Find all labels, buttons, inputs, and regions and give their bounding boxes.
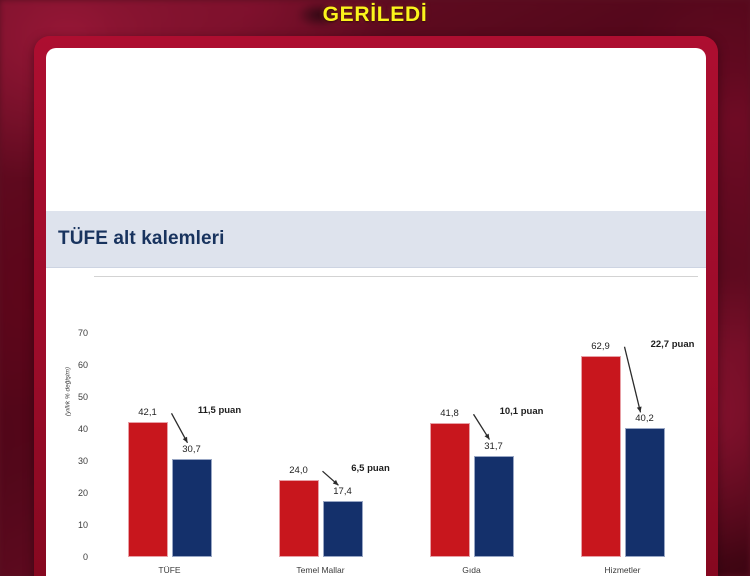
headline-text: GERİLEDİ [0, 0, 750, 34]
bar-value-label: 62,9 [591, 341, 610, 352]
bar [581, 356, 621, 557]
broadcast-screenshot: GERİLEDİ TÜFE alt kalemleri (yıllık % de… [0, 0, 750, 576]
bar [474, 456, 514, 557]
x-axis-category-label: TÜFE [158, 565, 180, 575]
y-axis-tick: 40 [54, 424, 88, 434]
chart-title-band: TÜFE alt kalemleri [46, 211, 706, 268]
delta-annotation-label: 10,1 puan [500, 406, 544, 417]
bar [323, 501, 363, 557]
x-axis-category-label: Hizmetler [605, 565, 641, 575]
y-axis-tick: 10 [54, 520, 88, 530]
y-axis-tick: 30 [54, 456, 88, 466]
x-axis-baseline [94, 276, 698, 277]
y-axis-tick: 70 [54, 328, 88, 338]
delta-annotation-label: 11,5 puan [198, 405, 241, 416]
y-axis-tick: 60 [54, 360, 88, 370]
y-axis-tick: 20 [54, 488, 88, 498]
bar-value-label: 41,8 [440, 408, 459, 419]
bar-value-label: 40,2 [635, 413, 654, 424]
bar [430, 423, 470, 557]
bar-value-label: 31,7 [484, 441, 503, 452]
y-axis-tick: 50 [54, 392, 88, 402]
bar [625, 428, 665, 557]
bar-value-label: 30,7 [182, 444, 201, 455]
y-axis-tick: 0 [54, 552, 88, 562]
bar-value-label: 17,4 [333, 486, 352, 497]
delta-annotation-label: 22,7 puan [651, 339, 695, 350]
chart-card: TÜFE alt kalemleri (yıllık % değişim) 01… [46, 48, 706, 576]
x-axis-category-label: Gıda [462, 565, 480, 575]
bar-chart-plot: (yıllık % değişim) 010203040506070 42,13… [46, 276, 706, 576]
bar-value-label: 24,0 [289, 465, 308, 476]
bar [279, 480, 319, 557]
bar-value-label: 42,1 [138, 407, 157, 418]
delta-annotation-label: 6,5 puan [351, 463, 390, 474]
chart-title: TÜFE alt kalemleri [46, 228, 225, 250]
bar [172, 459, 212, 557]
x-axis-category-label: Temel Mallar [296, 565, 344, 575]
bar [128, 422, 168, 557]
